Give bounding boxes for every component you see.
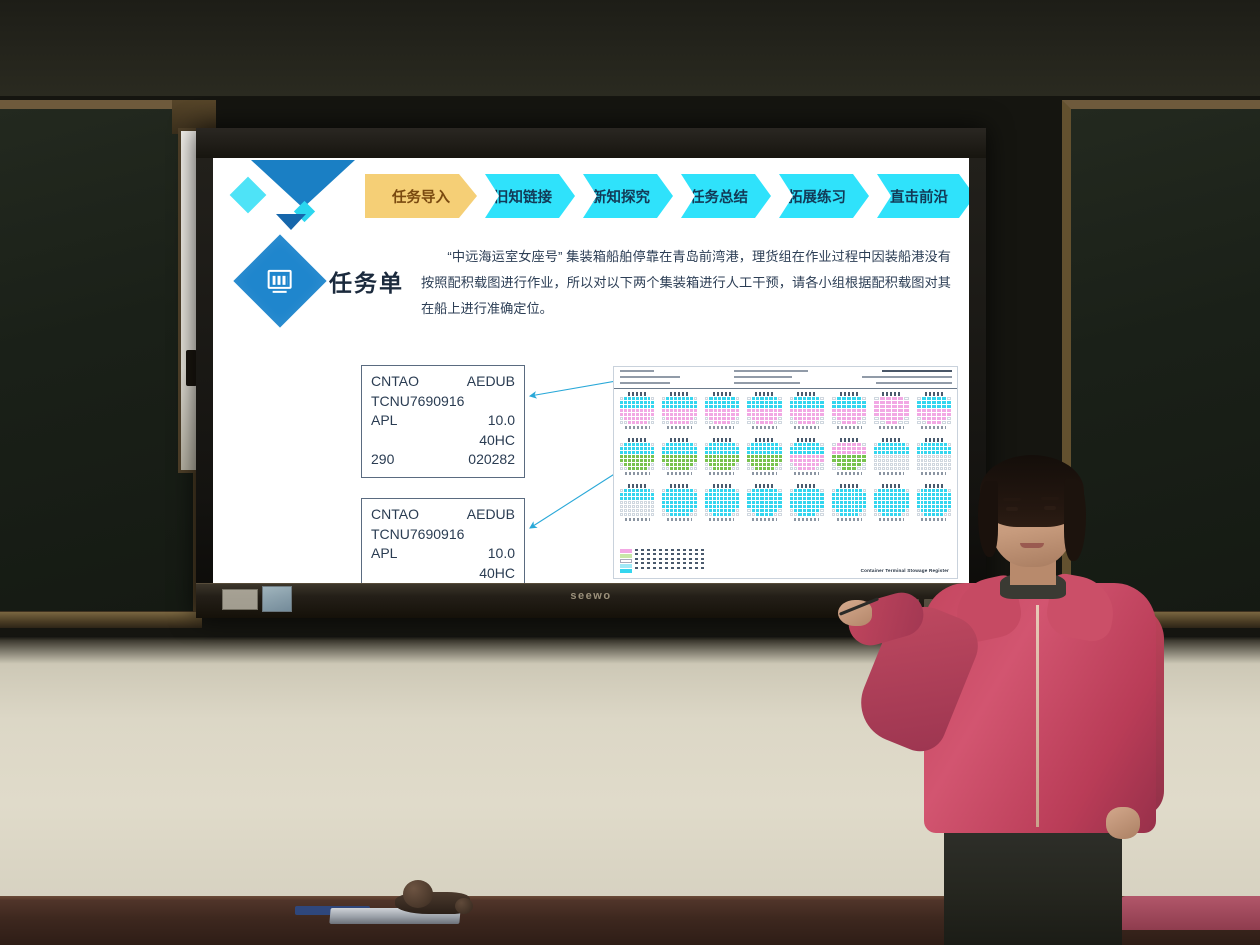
bay-plan <box>659 483 699 527</box>
wall-upper <box>0 0 1260 96</box>
presenter-eye-left <box>1006 507 1018 511</box>
card-row-type: 40HC <box>371 564 515 584</box>
triangle-icon-small <box>276 214 306 230</box>
bay-plan <box>744 483 784 527</box>
bay-plan <box>659 437 699 481</box>
type-value: 40HC <box>479 564 515 584</box>
presenter-brow-right <box>1041 497 1059 500</box>
card-row-number: TCNU7690916 <box>371 392 515 412</box>
voyage-value: 290 <box>371 450 394 470</box>
chart-monitor-icon <box>268 270 292 293</box>
bay-plan <box>787 391 827 435</box>
weight-value: 10.0 <box>488 544 515 564</box>
presenter-hand-right <box>1106 807 1140 839</box>
stowage-header <box>614 367 957 389</box>
nav-step-5[interactable]: 拓展练习 <box>765 174 869 218</box>
bay-plan <box>617 483 657 527</box>
container-card-1[interactable]: CNTAO AEDUB TCNU7690916 APL 10.0 40HC 29 <box>361 365 525 478</box>
pol-value: CNTAO <box>371 505 419 525</box>
bay-plan <box>871 391 911 435</box>
bay-plan <box>617 391 657 435</box>
presenter-hair-right <box>1064 479 1086 561</box>
section-diamond <box>233 234 326 327</box>
stowage-legend <box>620 549 706 574</box>
bay-plan <box>914 391 954 435</box>
container-no-value: TCNU7690916 <box>371 525 464 545</box>
presenter <box>838 455 1178 945</box>
chalk-rail-left <box>0 612 202 628</box>
desk-item-object-small <box>455 898 473 914</box>
operator-value: APL <box>371 411 397 431</box>
bay-plan <box>659 391 699 435</box>
card-row-ports: CNTAO AEDUB <box>371 505 515 525</box>
section-header: 任务单 <box>247 248 404 314</box>
card-row-operator: APL 10.0 <box>371 411 515 431</box>
bay-plan <box>702 437 742 481</box>
slide-decoration <box>213 158 383 238</box>
desk-item-object <box>403 880 433 908</box>
process-nav: 任务导入 旧知链接 新知探究 任务总结 拓展练习 直击前沿 <box>365 174 969 218</box>
bay-plan <box>787 483 827 527</box>
jacket-zipper <box>1036 605 1039 827</box>
bay-plan <box>702 483 742 527</box>
card-row-ports: CNTAO AEDUB <box>371 372 515 392</box>
card-row-type: 40HC <box>371 431 515 451</box>
nav-step-4[interactable]: 任务总结 <box>667 174 771 218</box>
legend-labels <box>635 549 706 574</box>
legend-swatches <box>620 549 632 574</box>
nav-step-6[interactable]: 直击前沿 <box>863 174 969 218</box>
bay-plan <box>787 437 827 481</box>
task-description: “中远海运室女座号” 集装箱船舶停靠在青岛前湾港，理货组在作业过程中因装船港没有… <box>421 244 951 322</box>
presenter-mouth <box>1020 543 1044 548</box>
presenter-hair-left <box>978 481 998 557</box>
pod-value: AEDUB <box>467 505 515 525</box>
nav-step-3[interactable]: 新知探究 <box>569 174 673 218</box>
operator-value: APL <box>371 544 397 564</box>
weight-value: 10.0 <box>488 411 515 431</box>
container-no-value: TCNU7690916 <box>371 392 464 412</box>
chalkboard-left <box>0 100 202 620</box>
presenter-brow-left <box>1003 498 1021 501</box>
container-card-2[interactable]: CNTAO AEDUB TCNU7690916 APL 10.0 40HC 29 <box>361 498 525 583</box>
presenter-eye-right <box>1044 506 1056 510</box>
classroom-scene: 任务导入 旧知链接 新知探究 任务总结 拓展练习 直击前沿 任务单 <box>0 0 1260 945</box>
pod-value: AEDUB <box>467 372 515 392</box>
nav-step-2[interactable]: 旧知链接 <box>471 174 575 218</box>
bay-plan <box>744 437 784 481</box>
pol-value: CNTAO <box>371 372 419 392</box>
nav-step-1[interactable]: 任务导入 <box>365 174 477 218</box>
bay-plan <box>617 437 657 481</box>
card-row-slot: 290 020282 <box>371 450 515 470</box>
slot-value: 020282 <box>468 450 515 470</box>
display-bezel-top <box>196 128 986 158</box>
bay-plan <box>829 391 869 435</box>
type-value: 40HC <box>479 431 515 451</box>
card-row-operator: APL 10.0 <box>371 544 515 564</box>
page-title: 任务单 <box>329 264 404 298</box>
bay-plan <box>702 391 742 435</box>
bay-plan <box>744 391 784 435</box>
card-row-number: TCNU7690916 <box>371 525 515 545</box>
